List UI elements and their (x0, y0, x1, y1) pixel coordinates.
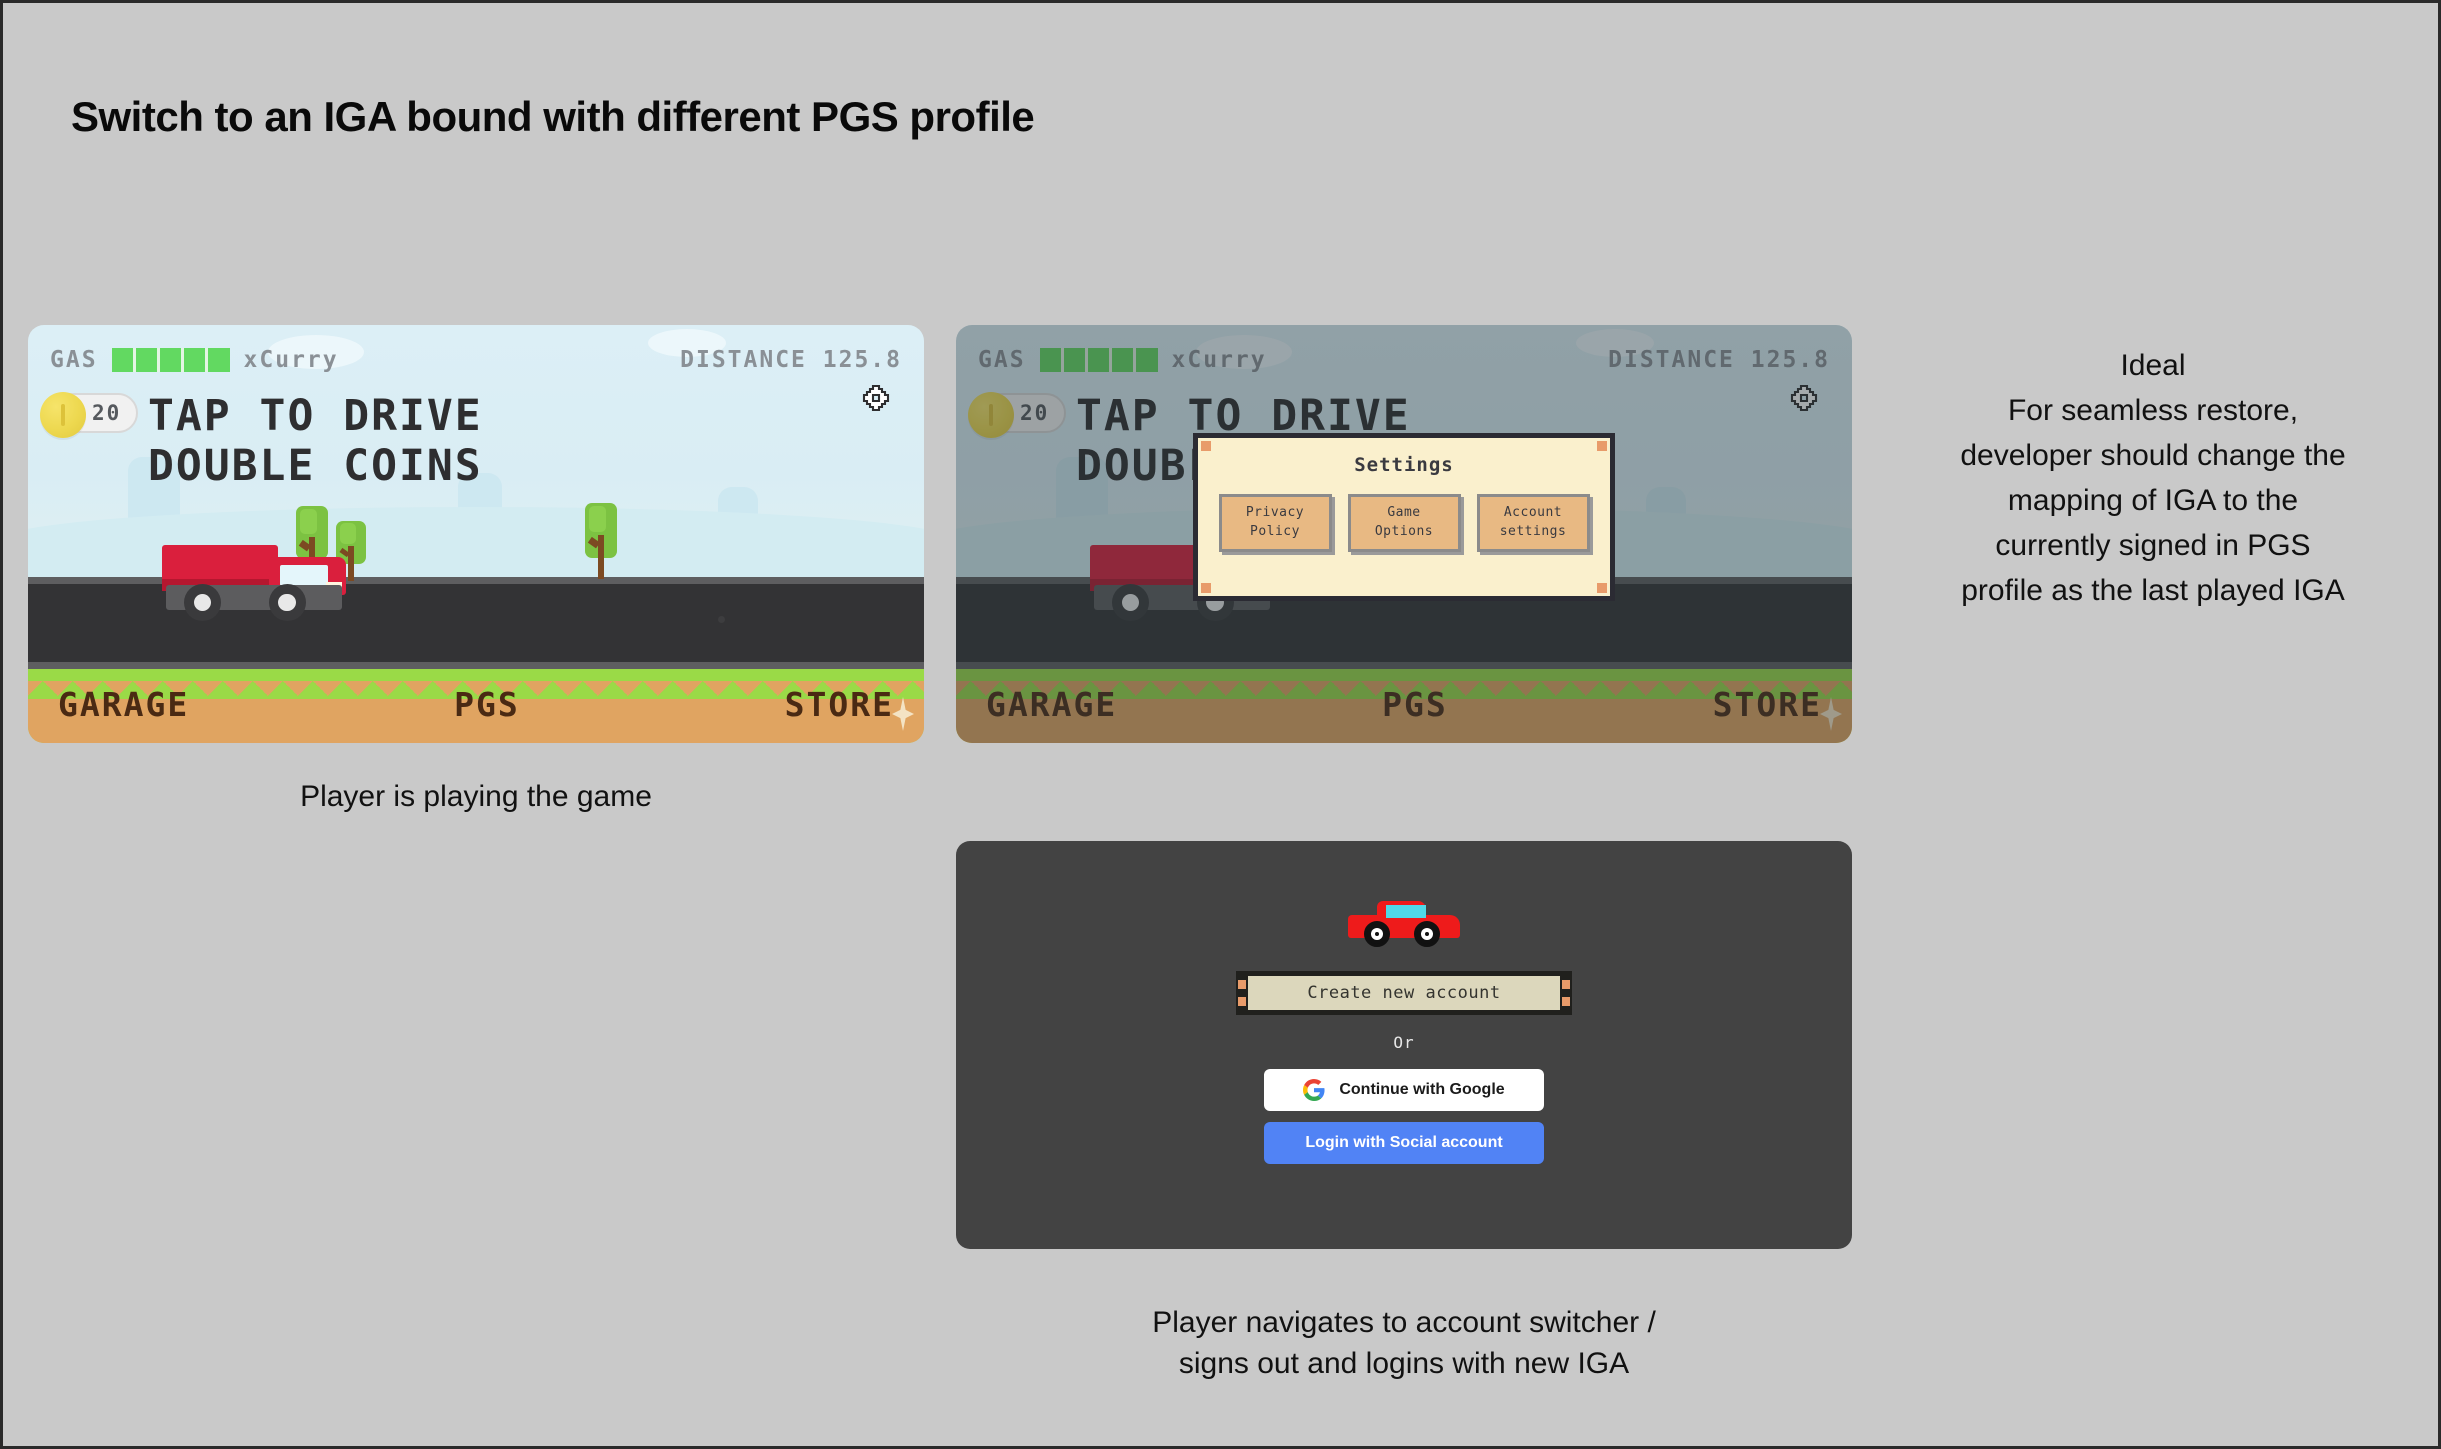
tap-line-1: TAP TO DRIVE (148, 391, 483, 441)
login-social-account-button[interactable]: Login with Social account (1264, 1122, 1544, 1164)
ideal-note: Ideal For seamless restore, developer sh… (1883, 343, 2423, 613)
gas-meter: GAS xCurry (978, 347, 1267, 373)
distance-readout: DISTANCE 125.8 (680, 347, 902, 373)
game-options-line1: Game (1387, 505, 1420, 520)
car-sprite (1348, 901, 1460, 947)
slide-canvas: Switch to an IGA bound with different PG… (3, 3, 2438, 1446)
gas-meter: GAS xCurry (50, 347, 339, 373)
bottom-nav: GARAGE PGS STORE (956, 681, 1852, 727)
coin-count: 20 (92, 401, 121, 425)
coin-badge[interactable]: 20 (46, 393, 138, 433)
bottom-nav: GARAGE PGS STORE (28, 681, 924, 727)
nav-pgs[interactable]: PGS (1382, 685, 1448, 724)
coin-icon (40, 392, 86, 438)
google-logo-icon (1303, 1079, 1325, 1101)
settings-dialog-buttons: Privacy Policy Game Options Account sett… (1198, 494, 1610, 552)
nav-garage[interactable]: GARAGE (58, 685, 189, 724)
ideal-line-2: developer should change the (1883, 433, 2423, 478)
coin-icon (968, 392, 1014, 438)
player-name: xCurry (1172, 347, 1267, 373)
page-title: Switch to an IGA bound with different PG… (71, 93, 1034, 141)
tap-line-2: DOUBLE COINS (148, 441, 483, 491)
dialog-corner-accent (1201, 441, 1211, 451)
privacy-policy-line2: Policy (1250, 524, 1300, 539)
settings-dialog[interactable]: Settings Privacy Policy Game Options Acc… (1193, 433, 1615, 601)
create-new-account-button[interactable]: Create new account (1248, 971, 1560, 1015)
nav-garage[interactable]: GARAGE (986, 685, 1117, 724)
nav-pgs[interactable]: PGS (454, 685, 520, 724)
gas-label: GAS (50, 347, 98, 373)
account-settings-line2: settings (1500, 524, 1567, 539)
or-divider-label: Or (1393, 1033, 1414, 1052)
ideal-line-5: profile as the last played IGA (1883, 568, 2423, 613)
game-options-button[interactable]: Game Options (1348, 494, 1461, 552)
road-speck (718, 616, 725, 623)
game-panel-playing[interactable]: GAS xCurry DISTANCE 125.8 20 TAP TO DRIV… (28, 325, 924, 743)
continue-with-google-button[interactable]: Continue with Google (1264, 1069, 1544, 1111)
account-switcher-panel[interactable]: Create new account Or Continue with Goog… (956, 841, 1852, 1249)
settings-dialog-title: Settings (1198, 454, 1610, 476)
ideal-heading: Ideal (1883, 343, 2423, 388)
caption-account-line1: Player navigates to account switcher / (956, 1303, 1852, 1344)
gas-bar (112, 348, 230, 372)
dialog-corner-accent (1201, 583, 1211, 593)
button-side-cap (1236, 971, 1248, 1015)
social-button-label: Login with Social account (1305, 1134, 1502, 1152)
coin-count: 20 (1020, 401, 1049, 425)
gas-label: GAS (978, 347, 1026, 373)
ideal-line-1: For seamless restore, (1883, 388, 2423, 433)
button-side-cap (1560, 971, 1572, 1015)
gear-icon[interactable] (1786, 383, 1822, 419)
caption-account-switcher: Player navigates to account switcher / s… (956, 1303, 1852, 1384)
tap-to-drive-prompt: TAP TO DRIVE DOUBLE COINS (148, 391, 483, 492)
nav-store[interactable]: STORE (1713, 685, 1822, 724)
ideal-line-4: currently signed in PGS (1883, 523, 2423, 568)
game-hud: GAS xCurry DISTANCE 125.8 20 TAP TO DRIV… (28, 325, 924, 577)
distance-readout: DISTANCE 125.8 (1608, 347, 1830, 373)
create-account-label: Create new account (1307, 983, 1500, 1003)
caption-account-line2: signs out and logins with new IGA (956, 1344, 1852, 1385)
gas-bar (1040, 348, 1158, 372)
account-settings-line1: Account (1504, 505, 1562, 520)
gear-icon[interactable] (858, 383, 894, 419)
player-name: xCurry (244, 347, 339, 373)
dialog-corner-accent (1597, 583, 1607, 593)
account-settings-button[interactable]: Account settings (1477, 494, 1590, 552)
privacy-policy-button[interactable]: Privacy Policy (1219, 494, 1332, 552)
coin-badge[interactable]: 20 (974, 393, 1066, 433)
ideal-line-3: mapping of IGA to the (1883, 478, 2423, 523)
privacy-policy-line1: Privacy (1246, 505, 1304, 520)
nav-store[interactable]: STORE (785, 685, 894, 724)
google-button-label: Continue with Google (1339, 1081, 1504, 1099)
caption-playing: Player is playing the game (28, 777, 924, 818)
game-options-line2: Options (1375, 524, 1433, 539)
dialog-corner-accent (1597, 441, 1607, 451)
